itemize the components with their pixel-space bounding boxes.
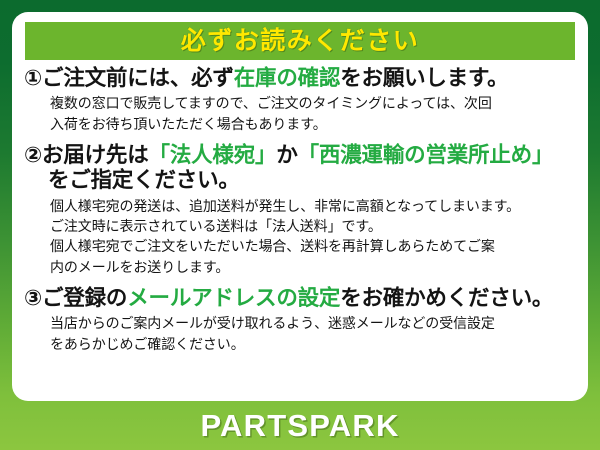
notice-item-2-head-highlight: 「法人様宛」 [149,143,277,167]
notice-item-1-body: 複数の窓口で販売してますので、ご注文のタイミングによっては、次回 入荷をお待ち頂… [24,93,578,134]
notice-item-1-head-pre: ご注文前には、必ず [42,66,234,90]
notice-item-2-headline-continuation: をご指定ください。 [24,168,578,193]
notice-item-3-head-highlight: メールアドレスの設定 [127,286,340,310]
notice-item-2-body-line-3: 個人様宅宛でご注文をいただいた場合、送料を再計算しあらためてご案 [50,236,578,256]
notice-item-list: ①ご注文前には、必ず在庫の確認をお願いします。 複数の窓口で販売してますので、ご… [12,64,588,354]
notice-item-3-body: 当店からのご案内メールが受け取れるよう、迷惑メールなどの受信設定 をあらかじめご… [24,313,578,354]
notice-item-1-head-post: をお願いします。 [340,66,508,90]
title-banner: 必ずお読みください [25,22,575,60]
notice-item-2-body: 個人様宅宛の発送は、追加送料が発生し、非常に高額となってしまいます。 ご注文時に… [24,196,578,277]
notice-item-3-head-pre: ご登録の [42,286,127,310]
notice-item-3-head-post: をお確かめください。 [340,286,553,310]
brand-footer: PARTSPARK [0,401,600,450]
notice-item-2-headline: ②お届け先は「法人様宛」か「西濃運輸の営業所止め」 [24,143,578,168]
brand-name: PARTSPARK [200,410,399,441]
notice-item-2-marker: ② [24,143,42,167]
notice-item-3-headline: ③ご登録のメールアドレスの設定をお確かめください。 [24,286,578,311]
notice-item-2-body-line-2: ご注文時に表示されている送料は「法人送料」です。 [50,216,578,236]
content-panel: 必ずお読みください ①ご注文前には、必ず在庫の確認をお願いします。 複数の窓口で… [12,12,588,401]
notice-item-1-body-line-2: 入荷をお待ち頂いたただく場合もあります。 [50,114,578,134]
notice-poster: 必ずお読みください ①ご注文前には、必ず在庫の確認をお願いします。 複数の窓口で… [0,0,600,450]
notice-item-2-head-mid: か [276,143,297,167]
notice-item-3: ③ご登録のメールアドレスの設定をお確かめください。 当店からのご案内メールが受け… [12,286,588,354]
notice-item-3-body-line-2: をあらかじめご確認ください。 [50,334,578,354]
notice-item-2-body-line-4: 内のメールをお送りします。 [50,257,578,277]
notice-item-2-head-highlight-2: 「西濃運輸の営業所止め」 [298,143,554,167]
notice-item-1-head-highlight: 在庫の確認 [234,66,341,90]
notice-item-1-headline: ①ご注文前には、必ず在庫の確認をお願いします。 [24,66,578,91]
notice-item-1-marker: ① [24,66,42,90]
notice-item-1: ①ご注文前には、必ず在庫の確認をお願いします。 複数の窓口で販売してますので、ご… [12,66,588,134]
notice-item-2-head-pre: お届け先は [42,143,149,167]
page-title: 必ずお読みください [181,29,420,54]
notice-item-3-marker: ③ [24,286,42,310]
notice-item-2: ②お届け先は「法人様宛」か「西濃運輸の営業所止め」 をご指定ください。 個人様宅… [12,143,588,277]
notice-item-2-body-line-1: 個人様宅宛の発送は、追加送料が発生し、非常に高額となってしまいます。 [50,196,578,216]
notice-item-3-body-line-1: 当店からのご案内メールが受け取れるよう、迷惑メールなどの受信設定 [50,313,578,333]
notice-item-1-body-line-1: 複数の窓口で販売してますので、ご注文のタイミングによっては、次回 [50,93,578,113]
